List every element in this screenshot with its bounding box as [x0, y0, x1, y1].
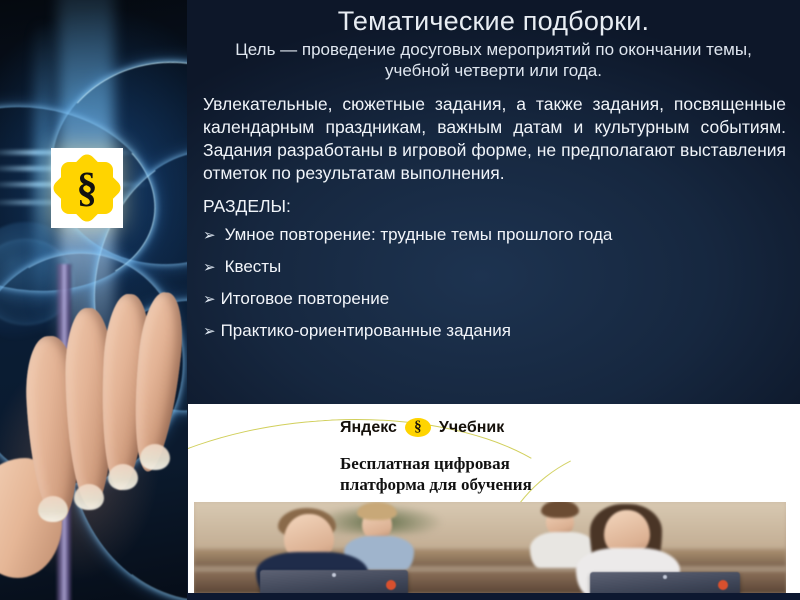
laptop-camera-dot	[663, 575, 667, 579]
main-content-panel: Тематические подборки. Цель — проведение…	[187, 0, 800, 600]
section-item-label: Итоговое повторение	[221, 288, 390, 310]
section-item-label: Практико-ориентированные задания	[221, 320, 511, 342]
sections-list: ➢Умное повторение: трудные темы прошлого…	[187, 224, 800, 342]
fingernail	[74, 484, 104, 510]
promo-tagline: Бесплатная цифровая платформа для обучен…	[340, 454, 532, 495]
arrow-bullet-icon: ➢	[203, 258, 216, 278]
arrow-bullet-icon: ➢	[203, 322, 216, 342]
laptop-camera-dot	[332, 573, 336, 577]
laptop-indicator	[386, 580, 396, 590]
logo-glyph: §	[77, 167, 98, 209]
sections-heading: РАЗДЕЛЫ:	[187, 196, 800, 217]
fingernail	[140, 444, 170, 470]
hand-photo	[0, 284, 187, 600]
promo-card: Яндекс § Учебник Бесплатная цифровая пла…	[188, 404, 791, 593]
classroom-photo	[194, 502, 786, 593]
arrow-bullet-icon: ➢	[203, 290, 216, 310]
arrow-bullet-icon: ➢	[203, 226, 216, 246]
fingernail	[108, 464, 138, 490]
laptop	[590, 572, 740, 593]
brand-badge-icon: §	[405, 418, 431, 437]
section-list-item: ➢Практико-ориентированные задания	[203, 320, 784, 342]
student-hair	[541, 502, 579, 518]
laptop	[260, 570, 408, 593]
section-item-label: Квесты	[225, 256, 282, 278]
sunburst-icon: §	[57, 158, 117, 218]
slide-subtitle: Цель — проведение досуговых мероприятий …	[187, 39, 800, 82]
student-hair	[357, 502, 397, 520]
brand-row: Яндекс § Учебник	[340, 418, 504, 437]
slide-title: Тематические подборки.	[187, 0, 800, 37]
body-paragraph: Увлекательные, сюжетные задания, а также…	[187, 93, 800, 185]
fingernail	[38, 496, 68, 522]
section-item-label: Умное повторение: трудные темы прошлого …	[225, 224, 613, 246]
promo-card-edge	[791, 404, 800, 593]
yandex-uchebnik-logo-card: §	[51, 148, 123, 228]
section-list-item: ➢Умное повторение: трудные темы прошлого…	[203, 224, 784, 246]
slide-root: § Тематические подборки. Цель — проведен…	[0, 0, 800, 600]
left-hero-image: §	[0, 0, 187, 600]
bottom-strip	[187, 593, 800, 600]
section-list-item: ➢Итоговое повторение	[203, 288, 784, 310]
section-list-item: ➢Квесты	[203, 256, 784, 278]
brand-name-first: Яндекс	[340, 419, 397, 437]
brand-name-second: Учебник	[439, 419, 504, 437]
laptop-indicator	[718, 580, 728, 590]
